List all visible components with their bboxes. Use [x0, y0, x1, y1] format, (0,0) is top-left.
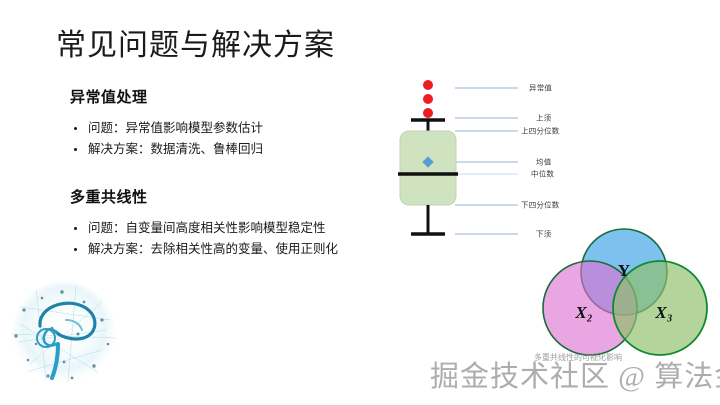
brain-network-graphic — [6, 276, 122, 392]
outlier-point — [423, 108, 433, 118]
box-rect — [400, 131, 456, 205]
section-collinearity: 多重共线性 问题：自变量间高度相关性影响模型稳定性 解决方案：去除相关性高的变量… — [70, 188, 338, 260]
boxplot-label-q1: 下四分位数 — [521, 200, 560, 211]
boxplot-label-upper-whisker: 上须 — [536, 113, 551, 124]
section-heading: 异常值处理 — [70, 88, 263, 108]
outlier-point — [423, 94, 433, 104]
venn-svg: Y X₂ X₃ — [528, 228, 720, 363]
boxplot-label-median: 中位数 — [531, 169, 554, 180]
slide-canvas: 常见问题与解决方案 异常值处理 问题：异常值影响模型参数估计 解决方案：数据清洗… — [0, 0, 720, 405]
venn-label-x3: X₃ — [654, 303, 672, 322]
bullet-list: 问题：异常值影响模型参数估计 解决方案：数据清洗、鲁棒回归 — [70, 118, 263, 160]
venn-diagram: Y X₂ X₃ — [528, 228, 720, 363]
boxplot-label-outlier: 异常值 — [529, 83, 552, 94]
venn-label-x2: X₂ — [574, 303, 592, 322]
boxplot-figure: 异常值 上须 上四分位数 均值 中位数 下四分位数 下须 — [398, 68, 598, 253]
bullet-list: 问题：自变量间高度相关性影响模型稳定性 解决方案：去除相关性高的变量、使用正则化 — [70, 218, 338, 260]
list-item: 解决方案：数据清洗、鲁棒回归 — [70, 139, 263, 160]
boxplot-label-q3: 上四分位数 — [521, 126, 560, 137]
list-item: 解决方案：去除相关性高的变量、使用正则化 — [70, 239, 338, 260]
boxplot-label-mean: 均值 — [536, 157, 551, 168]
page-title: 常见问题与解决方案 — [56, 28, 335, 64]
outlier-point — [423, 80, 433, 90]
boxplot-svg — [398, 68, 598, 253]
venn-label-y: Y — [618, 261, 630, 280]
section-outliers: 异常值处理 问题：异常值影响模型参数估计 解决方案：数据清洗、鲁棒回归 — [70, 88, 263, 160]
brain-network-svg — [6, 276, 122, 392]
list-item: 问题：异常值影响模型参数估计 — [70, 118, 263, 139]
list-item: 问题：自变量间高度相关性影响模型稳定性 — [70, 218, 338, 239]
section-heading: 多重共线性 — [70, 188, 338, 208]
watermark: 掘金技术社区 @ 算法金 — [430, 358, 720, 396]
